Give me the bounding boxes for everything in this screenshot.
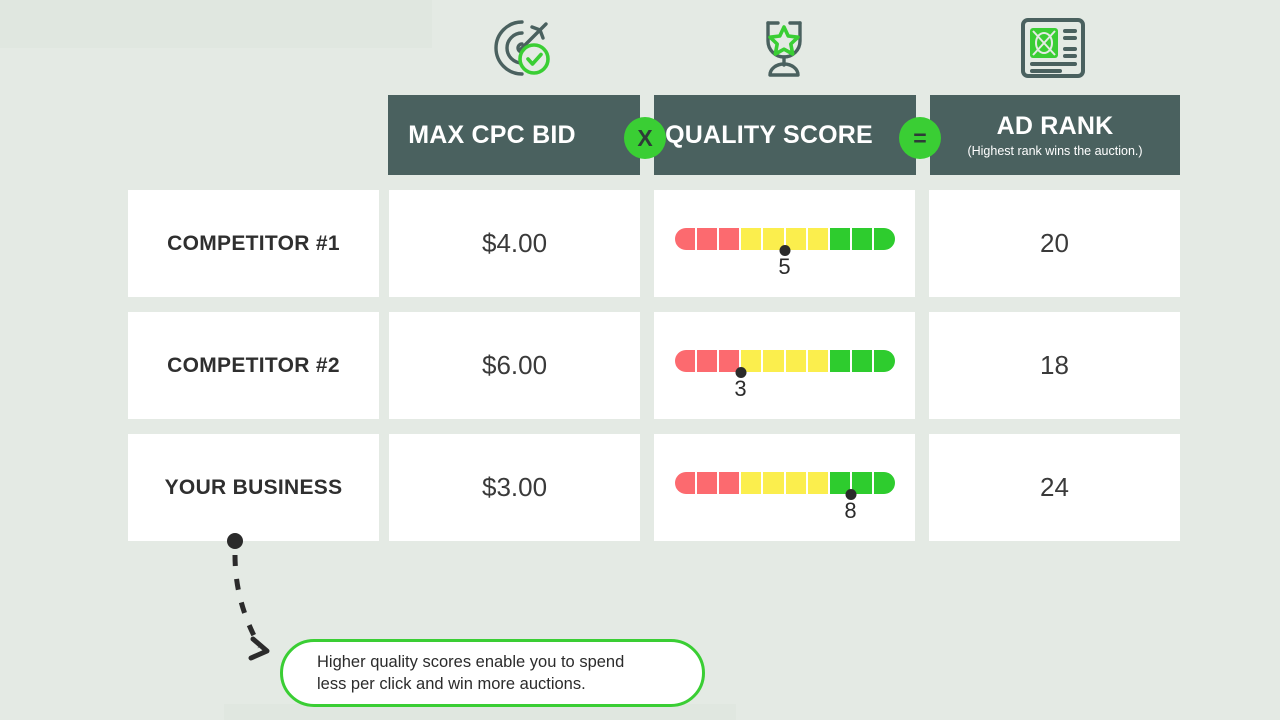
row-bid-value: $4.00 [482,228,547,259]
quality-meter-segment [874,472,894,494]
table-header-bar: MAX CPC BID QUALITY SCORE AD RANK (Highe… [388,95,1180,175]
table-row: COMPETITOR #1 $4.00 5 20 [128,190,1180,297]
callout-pointer-arrow [215,525,295,670]
table-row: COMPETITOR #2 $6.00 3 18 [128,312,1180,419]
quality-meter: 8 [675,458,895,518]
quality-meter-segment [675,472,697,494]
quality-meter-segment [719,228,741,250]
quality-meter-segment [719,472,741,494]
row-label: YOUR BUSINESS [165,476,343,500]
quality-meter-segment [786,472,808,494]
quality-meter-segment [741,228,763,250]
row-bid-cell: $4.00 [389,190,640,297]
quality-meter-segment [786,350,808,372]
quality-meter-segment [763,472,785,494]
row-quality-cell: 5 [654,190,915,297]
quality-meter-segment [808,350,830,372]
header-subtitle-ad-rank: (Highest rank wins the auction.) [967,144,1142,158]
header-title-quality-score: QUALITY SCORE [665,121,873,150]
operator-equals-symbol: = [913,125,926,152]
quality-meter-segment [830,228,852,250]
quality-meter-segment [697,472,719,494]
operator-multiply-badge: X [624,117,666,159]
quality-meter-segment [741,472,763,494]
row-bid-cell: $6.00 [389,312,640,419]
quality-meter-track [675,472,895,494]
row-name-cell: COMPETITOR #1 [128,190,379,297]
quality-meter: 5 [675,214,895,274]
row-ad-rank-value: 18 [1040,350,1069,381]
row-bid-cell: $3.00 [389,434,640,541]
icon-row [0,0,1280,95]
header-title-ad-rank: AD RANK [997,112,1114,141]
quality-meter-segment [852,350,874,372]
header-cell-quality-score: QUALITY SCORE [654,95,916,175]
row-quality-cell: 8 [654,434,915,541]
row-name-cell: COMPETITOR #2 [128,312,379,419]
trophy-star-icon [719,8,849,88]
operator-equals-badge: = [899,117,941,159]
ad-banner-icon [988,8,1118,88]
row-ad-rank-value: 24 [1040,472,1069,503]
header-cell-ad-rank: AD RANK (Highest rank wins the auction.) [930,95,1180,175]
callout-line-2: less per click and win more auctions. [317,673,624,695]
quality-meter-value: 8 [844,498,856,524]
row-ad-rank-cell: 24 [929,434,1180,541]
callout-line-1: Higher quality scores enable you to spen… [317,651,624,673]
row-bid-value: $3.00 [482,472,547,503]
row-bid-value: $6.00 [482,350,547,381]
quality-meter-segment [874,228,894,250]
quality-meter-value: 3 [734,376,746,402]
quality-meter-segment [808,472,830,494]
quality-meter-segment [852,472,874,494]
quality-meter-segment [763,350,785,372]
row-label: COMPETITOR #1 [167,232,340,256]
quality-meter-segment [675,350,697,372]
operator-multiply-symbol: X [637,125,652,152]
row-ad-rank-cell: 18 [929,312,1180,419]
quality-meter-segment [675,228,697,250]
quality-meter-segment [830,350,852,372]
row-quality-cell: 3 [654,312,915,419]
quality-meter-segment [697,228,719,250]
quality-meter-track [675,350,895,372]
header-title-max-cpc-bid: MAX CPC BID [408,121,575,150]
row-label: COMPETITOR #2 [167,354,340,378]
target-check-icon [457,8,587,88]
row-ad-rank-cell: 20 [929,190,1180,297]
quality-meter-segment [852,228,874,250]
comparison-table: COMPETITOR #1 $4.00 5 20 COMPETITOR #2 $… [128,190,1180,556]
callout-box: Higher quality scores enable you to spen… [280,639,705,707]
row-ad-rank-value: 20 [1040,228,1069,259]
quality-meter-segment [808,228,830,250]
callout-text: Higher quality scores enable you to spen… [317,651,624,696]
quality-meter-value: 5 [778,254,790,280]
quality-meter: 3 [675,336,895,396]
quality-meter-segment [874,350,894,372]
quality-meter-segment [697,350,719,372]
header-cell-max-cpc-bid: MAX CPC BID [388,95,640,175]
